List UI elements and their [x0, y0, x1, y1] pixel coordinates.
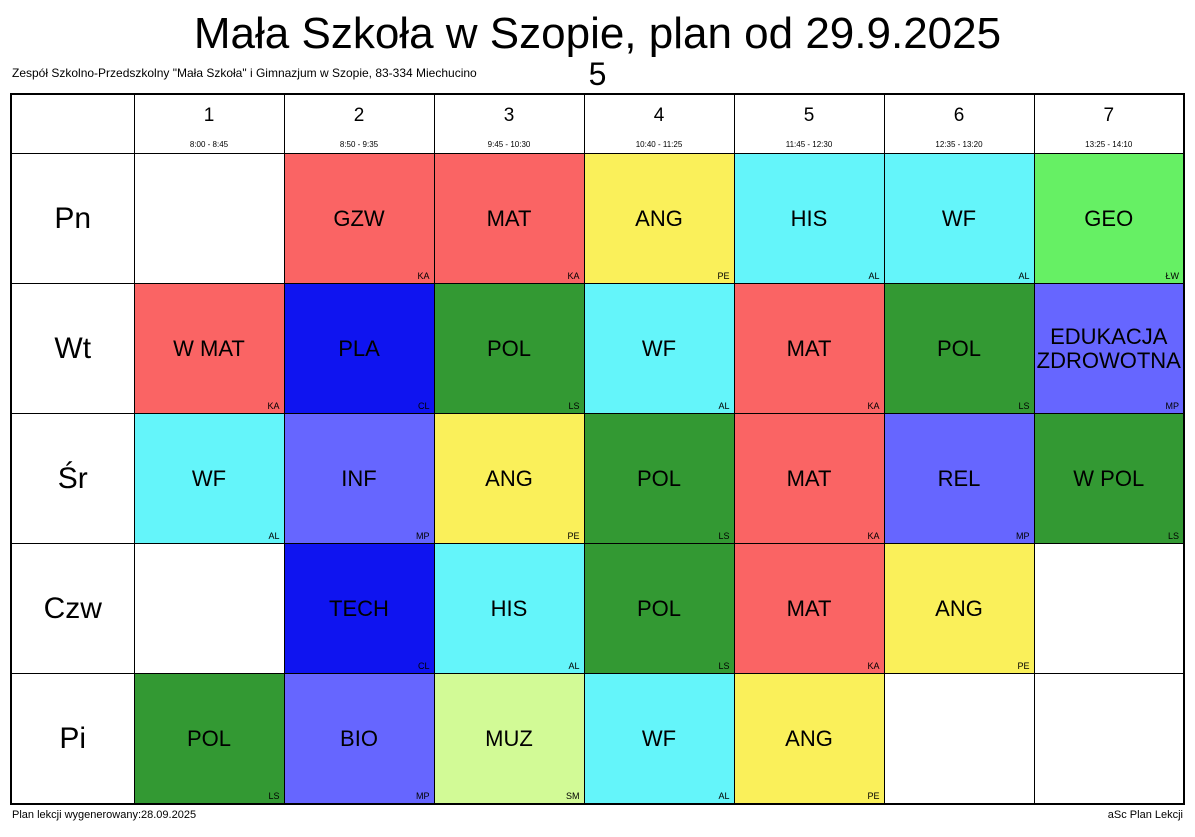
lesson-cell[interactable]: ANGPE	[584, 154, 734, 284]
lesson-content	[1035, 674, 1184, 803]
lesson-subject: REL	[936, 467, 983, 491]
lesson-teacher: LS	[268, 792, 279, 801]
lesson-teacher: PE	[1017, 662, 1029, 671]
lesson-cell[interactable]: POLLS	[434, 284, 584, 414]
day-label-cell: Pi	[11, 674, 134, 805]
lesson-content: MATKA	[735, 284, 884, 413]
lesson-teacher: ŁW	[1166, 272, 1180, 281]
page-title: Mała Szkoła w Szopie, plan od 29.9.2025	[0, 0, 1195, 56]
lesson-teacher: PE	[567, 532, 579, 541]
lesson-cell[interactable]: TECHCL	[284, 544, 434, 674]
lesson-subject: POL	[635, 467, 683, 491]
lesson-content: POLLS	[885, 284, 1034, 413]
lesson-content	[135, 154, 284, 283]
lesson-content	[1035, 544, 1184, 673]
footer: Plan lekcji wygenerowany:28.09.2025 aSc …	[0, 809, 1195, 825]
lesson-subject: MAT	[785, 597, 834, 621]
timetable-row-Pn: PnGZWKAMATKAANGPEHISALWFALGEOŁW	[11, 154, 1184, 284]
lesson-cell[interactable]: ANGPE	[734, 674, 884, 805]
lesson-content: ANGPE	[885, 544, 1034, 673]
day-label-cell: Czw	[11, 544, 134, 674]
period-header-2[interactable]: 28:50 - 9:35	[284, 94, 434, 154]
lesson-teacher: LS	[1018, 402, 1029, 411]
lesson-teacher: SM	[566, 792, 580, 801]
lesson-teacher: CL	[418, 402, 430, 411]
day-label: Pi	[12, 724, 134, 754]
lesson-subject: GZW	[331, 207, 386, 231]
lesson-subject: MAT	[485, 207, 534, 231]
lesson-subject: BIO	[338, 727, 380, 751]
timetable-row-Śr: ŚrWFALINFMPANGPEPOLLSMATKARELMPW POLLS	[11, 414, 1184, 544]
lesson-content	[135, 544, 284, 673]
lesson-subject: POL	[185, 727, 233, 751]
lesson-teacher: AL	[868, 272, 879, 281]
lesson-subject: HIS	[789, 207, 830, 231]
lesson-teacher: AL	[568, 662, 579, 671]
lesson-content: WFAL	[135, 414, 284, 543]
lesson-content: POLLS	[135, 674, 284, 803]
lesson-cell[interactable]: EDUKACJA ZDROWOTNAMP	[1034, 284, 1184, 414]
lesson-teacher: MP	[416, 792, 430, 801]
lesson-content: BIOMP	[285, 674, 434, 803]
lesson-cell[interactable]: MATKA	[734, 414, 884, 544]
lesson-cell[interactable]: WFAL	[134, 414, 284, 544]
lesson-subject: WF	[940, 207, 978, 231]
lesson-cell[interactable]: ANGPE	[434, 414, 584, 544]
page-header: Mała Szkoła w Szopie, plan od 29.9.2025 …	[0, 0, 1195, 88]
period-number: 7	[1035, 106, 1184, 125]
lesson-cell[interactable]: INFMP	[284, 414, 434, 544]
lesson-subject: POL	[635, 597, 683, 621]
lesson-cell[interactable]: ANGPE	[884, 544, 1034, 674]
period-time: 11:45 - 12:30	[735, 141, 884, 149]
lesson-teacher: PE	[717, 272, 729, 281]
lesson-teacher: CL	[418, 662, 430, 671]
lesson-teacher: AL	[718, 792, 729, 801]
lesson-teacher: KA	[267, 402, 279, 411]
lesson-teacher: KA	[867, 662, 879, 671]
period-number: 6	[885, 106, 1034, 125]
lesson-content: MATKA	[435, 154, 584, 283]
lesson-content: EDUKACJA ZDROWOTNAMP	[1035, 284, 1184, 413]
footer-generated-text: Plan lekcji wygenerowany:28.09.2025	[12, 809, 196, 821]
lesson-content: POLLS	[585, 544, 734, 673]
lesson-content: POLLS	[435, 284, 584, 413]
lesson-subject: MAT	[785, 467, 834, 491]
period-header-4[interactable]: 410:40 - 11:25	[584, 94, 734, 154]
lesson-cell[interactable]: RELMP	[884, 414, 1034, 544]
lesson-subject: POL	[485, 337, 533, 361]
day-label: Wt	[12, 334, 134, 364]
lesson-teacher: LS	[718, 532, 729, 541]
lesson-subject: GEO	[1082, 207, 1135, 231]
lesson-teacher: LS	[718, 662, 729, 671]
lesson-content: HISAL	[435, 544, 584, 673]
lesson-cell[interactable]: MUZSM	[434, 674, 584, 805]
lesson-cell-empty	[1034, 544, 1184, 674]
lesson-content: MUZSM	[435, 674, 584, 803]
timetable-row-Czw: CzwTECHCLHISALPOLLSMATKAANGPE	[11, 544, 1184, 674]
lesson-cell-empty	[1034, 674, 1184, 805]
lesson-subject: POL	[935, 337, 983, 361]
subtitle-row: Zespół Szkolno-Przedszkolny "Mała Szkoła…	[0, 64, 1195, 88]
timetable: 18:00 - 8:4528:50 - 9:3539:45 - 10:30410…	[10, 93, 1185, 805]
lesson-teacher: LS	[1168, 532, 1179, 541]
lesson-content: GEOŁW	[1035, 154, 1184, 283]
lesson-cell[interactable]: MATKA	[734, 544, 884, 674]
day-label: Pn	[12, 204, 134, 234]
lesson-cell[interactable]: PLACL	[284, 284, 434, 414]
lesson-content: WFAL	[585, 284, 734, 413]
period-number: 1	[135, 106, 284, 125]
period-number: 5	[735, 106, 884, 125]
period-header-1[interactable]: 18:00 - 8:45	[134, 94, 284, 154]
lesson-subject: TECH	[327, 597, 391, 621]
lesson-cell[interactable]: HISAL	[734, 154, 884, 284]
lesson-cell-empty	[134, 154, 284, 284]
lesson-content: RELMP	[885, 414, 1034, 543]
lesson-teacher: MP	[1166, 402, 1180, 411]
lesson-content: WFAL	[885, 154, 1034, 283]
lesson-subject: WF	[190, 467, 228, 491]
day-label: Czw	[12, 594, 134, 624]
period-header-7[interactable]: 713:25 - 14:10	[1034, 94, 1184, 154]
period-header-6[interactable]: 612:35 - 13:20	[884, 94, 1034, 154]
lesson-cell[interactable]: GZWKA	[284, 154, 434, 284]
lesson-subject: ANG	[933, 597, 985, 621]
lesson-teacher: KA	[867, 402, 879, 411]
period-header-3[interactable]: 39:45 - 10:30	[434, 94, 584, 154]
day-label-cell: Śr	[11, 414, 134, 544]
lesson-content: HISAL	[735, 154, 884, 283]
lesson-content: W POLLS	[1035, 414, 1184, 543]
lesson-cell[interactable]: POLLS	[584, 414, 734, 544]
period-time: 8:50 - 9:35	[285, 141, 434, 149]
lesson-subject: MAT	[785, 337, 834, 361]
footer-brand: aSc Plan Lekcji	[1108, 809, 1183, 821]
lesson-teacher: AL	[718, 402, 729, 411]
period-header-5[interactable]: 511:45 - 12:30	[734, 94, 884, 154]
lesson-cell[interactable]: BIOMP	[284, 674, 434, 805]
timetable-row-Wt: WtW MATKAPLACLPOLLSWFALMATKAPOLLSEDUKACJ…	[11, 284, 1184, 414]
lesson-subject: PLA	[336, 337, 382, 361]
lesson-cell[interactable]: WFAL	[584, 674, 734, 805]
lesson-subject: HIS	[489, 597, 530, 621]
lesson-teacher: PE	[867, 792, 879, 801]
lesson-cell[interactable]: WFAL	[584, 284, 734, 414]
period-number: 3	[435, 106, 584, 125]
period-time: 12:35 - 13:20	[885, 141, 1034, 149]
lesson-subject: WF	[640, 727, 678, 751]
lesson-teacher: KA	[417, 272, 429, 281]
lesson-cell[interactable]: W POLLS	[1034, 414, 1184, 544]
lesson-subject: INF	[339, 467, 378, 491]
lesson-teacher: AL	[1018, 272, 1029, 281]
day-label: Śr	[12, 464, 134, 494]
timetable-corner-cell	[11, 94, 134, 154]
lesson-content: WFAL	[585, 674, 734, 803]
period-time: 10:40 - 11:25	[585, 141, 734, 149]
lesson-content: GZWKA	[285, 154, 434, 283]
lesson-teacher: LS	[568, 402, 579, 411]
lesson-content: MATKA	[735, 544, 884, 673]
lesson-teacher: MP	[1016, 532, 1030, 541]
lesson-cell-empty	[884, 674, 1034, 805]
lesson-content: PLACL	[285, 284, 434, 413]
lesson-cell[interactable]: MATKA	[434, 154, 584, 284]
lesson-content: W MATKA	[135, 284, 284, 413]
lesson-cell[interactable]: POLLS	[134, 674, 284, 805]
lesson-teacher: KA	[567, 272, 579, 281]
period-number: 4	[585, 106, 734, 125]
lesson-content	[885, 674, 1034, 803]
lesson-cell-empty	[134, 544, 284, 674]
lesson-cell[interactable]: MATKA	[734, 284, 884, 414]
lesson-subject: W POL	[1071, 467, 1146, 491]
day-label-cell: Wt	[11, 284, 134, 414]
period-number: 2	[285, 106, 434, 125]
lesson-content: ANGPE	[735, 674, 884, 803]
lesson-content: TECHCL	[285, 544, 434, 673]
lesson-cell[interactable]: POLLS	[884, 284, 1034, 414]
lesson-content: ANGPE	[585, 154, 734, 283]
lesson-content: INFMP	[285, 414, 434, 543]
lesson-subject: W MAT	[171, 337, 247, 361]
lesson-subject: WF	[640, 337, 678, 361]
timetable-container: 18:00 - 8:4528:50 - 9:3539:45 - 10:30410…	[10, 93, 1185, 805]
lesson-content: MATKA	[735, 414, 884, 543]
lesson-teacher: AL	[268, 532, 279, 541]
lesson-subject: MUZ	[483, 727, 535, 751]
lesson-cell[interactable]: GEOŁW	[1034, 154, 1184, 284]
timetable-row-Pi: PiPOLLSBIOMPMUZSMWFALANGPE	[11, 674, 1184, 805]
lesson-teacher: KA	[867, 532, 879, 541]
timetable-header-row: 18:00 - 8:4528:50 - 9:3539:45 - 10:30410…	[11, 94, 1184, 154]
lesson-content: POLLS	[585, 414, 734, 543]
class-name: 5	[0, 58, 1195, 90]
lesson-cell[interactable]: HISAL	[434, 544, 584, 674]
period-time: 13:25 - 14:10	[1035, 141, 1184, 149]
lesson-subject: ANG	[483, 467, 535, 491]
lesson-cell[interactable]: WFAL	[884, 154, 1034, 284]
lesson-subject: ANG	[783, 727, 835, 751]
lesson-cell[interactable]: W MATKA	[134, 284, 284, 414]
lesson-cell[interactable]: POLLS	[584, 544, 734, 674]
lesson-subject: ANG	[633, 207, 685, 231]
period-time: 9:45 - 10:30	[435, 141, 584, 149]
period-time: 8:00 - 8:45	[135, 141, 284, 149]
lesson-teacher: MP	[416, 532, 430, 541]
day-label-cell: Pn	[11, 154, 134, 284]
lesson-subject: EDUKACJA ZDROWOTNA	[1035, 325, 1184, 373]
lesson-content: ANGPE	[435, 414, 584, 543]
